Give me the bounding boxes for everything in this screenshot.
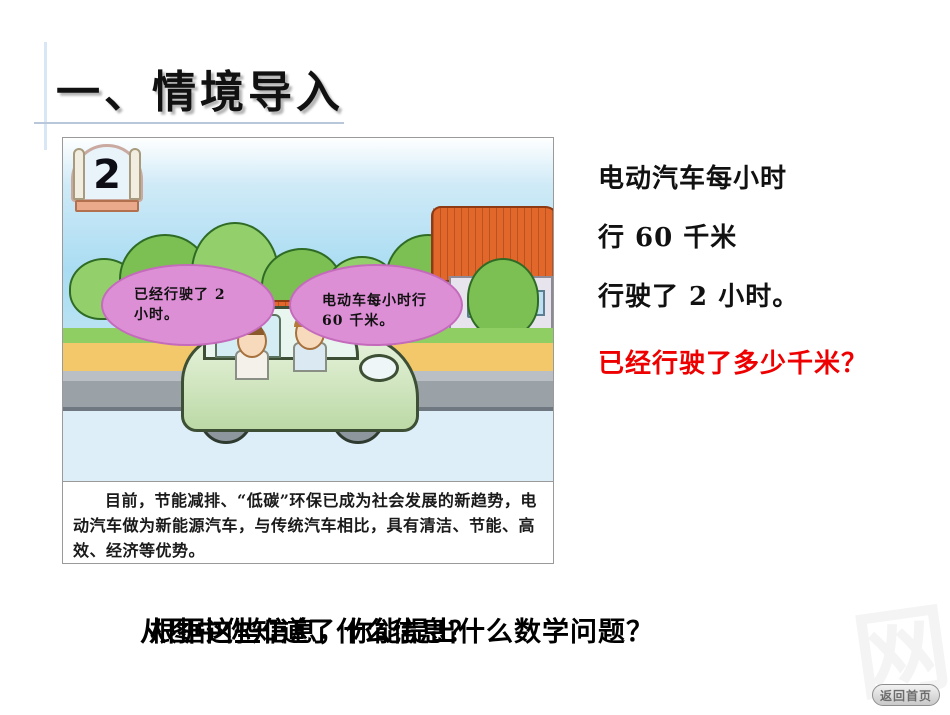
picture-caption: 目前，节能减排、“低碳”环保已成为社会发展的新趋势，电动汽车做为新能源汽车，与传…	[62, 481, 554, 564]
speech-bubble-right-text: 电动车每小时行 60 千米。	[322, 291, 430, 332]
problem-statement: 电动汽车每小时 行 60 千米 行驶了 2 小时。 已经行驶了多少千米？	[598, 158, 948, 380]
badge-base	[75, 200, 139, 212]
scene-illustration: 2 已经行驶了 2 小时。 电动车每小时行 60 千米。	[63, 138, 553, 483]
title-vertical-rule	[44, 42, 47, 150]
prompt-second: 根据这些信息，你能提出什么数学问题？	[150, 610, 654, 649]
speech-bubble-left-text: 已经行驶了 2 小时。	[134, 285, 242, 326]
problem-line-2: 行 60 千米	[598, 217, 948, 254]
speech-bubble-right: 电动车每小时行 60 千米。	[289, 264, 463, 346]
problem-line-1: 电动汽车每小时	[598, 158, 948, 195]
exercise-number-badge: 2	[71, 144, 143, 216]
problem-line-3: 行驶了 2 小时。	[598, 276, 948, 313]
return-home-button[interactable]: 返回首页	[872, 684, 940, 706]
page-title: 一、情境导入	[56, 56, 344, 120]
badge-number: 2	[71, 152, 143, 198]
title-horizontal-rule	[34, 122, 344, 124]
problem-question: 已经行驶了多少千米？	[598, 343, 948, 380]
car-headlight	[359, 354, 399, 382]
speech-bubble-left: 已经行驶了 2 小时。	[101, 264, 275, 346]
tree-icon	[467, 258, 539, 338]
prompt-overlap-group: 从图中你知道了什么信息？ 根据这些信息，你能提出什么数学问题？	[0, 610, 790, 654]
